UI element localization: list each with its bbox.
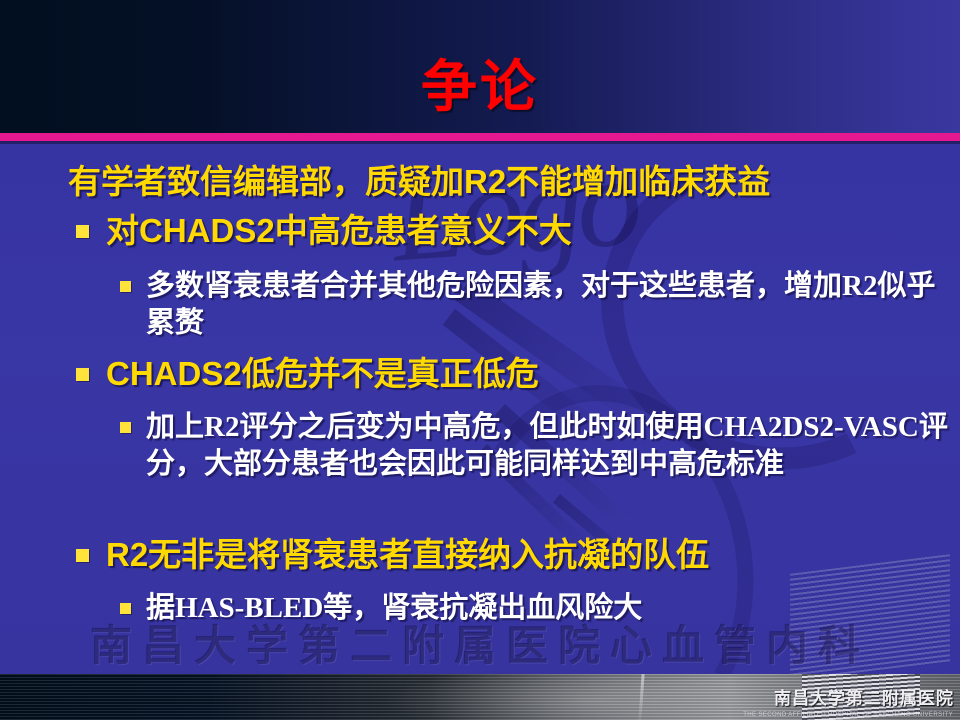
hospital-logo: 南昌大学第二附属医院 THE SECOND AFFILIATED HOSPITA… [755, 674, 960, 720]
lead-paragraph-text: 有学者致信编辑部，质疑加R2不能增加临床获益 [68, 162, 948, 202]
square-bullet-icon [120, 422, 131, 433]
bullet-level2-item: 加上R2评分之后变为中高危，但此时如使用CHA2DS2-VASC评分，大部分患者… [120, 409, 948, 483]
lead-paragraph: 有学者致信编辑部，质疑加R2不能增加临床获益 [68, 162, 948, 202]
bullet-level1-item: CHADS2低危并不是真正低危 [76, 353, 948, 395]
square-bullet-icon [120, 603, 131, 614]
slide-canvas: 争论 Logo 南昌大学第二附属医院心血管内科 有学者致信编辑部，质疑加R2不能… [0, 0, 960, 720]
header-accent-rule [0, 133, 960, 141]
square-bullet-icon [76, 368, 89, 381]
hospital-logo-text: 南昌大学第二附属医院 [774, 684, 954, 709]
square-bullet-icon [76, 549, 89, 562]
bullet-level1-item: R2无非是将肾衰患者直接纳入抗凝的队伍 [76, 534, 948, 576]
slide-title: 争论 [0, 56, 960, 118]
bullet-level1-text: CHADS2低危并不是真正低危 [106, 353, 948, 395]
bullet-level1-text: 对CHADS2中高危患者意义不大 [106, 210, 948, 252]
bullet-level1-item: 对CHADS2中高危患者意义不大 [76, 210, 948, 252]
bullet-level2-item: 据HAS-BLED等，肾衰抗凝出血风险大 [120, 590, 948, 627]
bullet-level1-text: R2无非是将肾衰患者直接纳入抗凝的队伍 [106, 534, 948, 576]
square-bullet-icon [76, 225, 89, 238]
hospital-logo-subtext: THE SECOND AFFILIATED HOSPITAL OF NANCHA… [743, 712, 953, 718]
bullet-level2-text: 加上R2评分之后变为中高危，但此时如使用CHA2DS2-VASC评分，大部分患者… [146, 409, 948, 483]
bullet-level2-text: 多数肾衰患者合并其他危险因素，对于这些患者，增加R2似乎累赘 [146, 268, 948, 342]
footer-photo-band: 南昌大学第二附属医院 THE SECOND AFFILIATED HOSPITA… [0, 674, 960, 720]
square-bullet-icon [120, 281, 131, 292]
footer-photo-haze [380, 674, 800, 720]
bullet-level2-text: 据HAS-BLED等，肾衰抗凝出血风险大 [146, 590, 948, 627]
slide-header-band: 争论 [0, 0, 960, 133]
slide-body: Logo 南昌大学第二附属医院心血管内科 有学者致信编辑部，质疑加R2不能增加临… [0, 144, 960, 674]
bullet-level2-item: 多数肾衰患者合并其他危险因素，对于这些患者，增加R2似乎累赘 [120, 268, 948, 342]
